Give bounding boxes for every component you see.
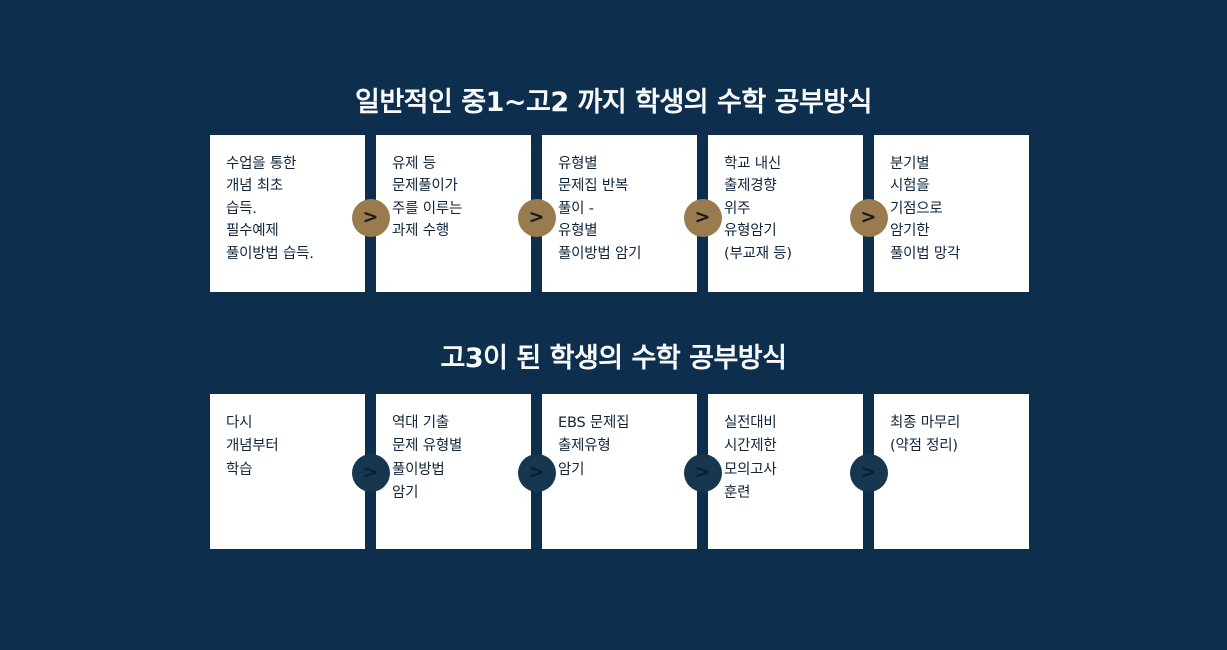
flow-step-senior-2[interactable]: 역대 기출 문제 유형별 풀이방법 암기 — [376, 394, 531, 549]
flow-step-text: 분기별 시험을 기점으로 암기한 풀이법 망각 — [890, 153, 1029, 265]
flow-connector-senior-3: > — [697, 394, 708, 549]
flow-step-general-2[interactable]: 유제 등 문제풀이가 주를 이루는 과제 수행 — [376, 135, 531, 292]
slide-canvas: 일반적인 중1~고2 까지 학생의 수학 공부방식 수업을 통한 개념 최초 습… — [0, 0, 1227, 650]
flow-step-text: 학교 내신 출제경향 위주 유형암기 (부교재 등) — [724, 153, 863, 265]
flow-row-senior: 다시 개념부터 학습 > 역대 기출 문제 유형별 풀이방법 암기 > EBS … — [210, 394, 1031, 549]
chevron-right-glyph: > — [695, 463, 711, 482]
arrow-right-icon: > — [684, 199, 722, 237]
flow-step-text: 최종 마무리 (약점 정리) — [890, 412, 1029, 459]
chevron-right-glyph: > — [529, 463, 545, 482]
flow-connector-senior-1: > — [365, 394, 376, 549]
flow-step-text: 수업을 통한 개념 최초 습득. 필수예제 풀이방법 습득. — [226, 153, 365, 265]
flow-step-text: EBS 문제집 출제유형 암기 — [558, 412, 697, 482]
arrow-right-icon: > — [518, 454, 556, 492]
flow-step-general-5[interactable]: 분기별 시험을 기점으로 암기한 풀이법 망각 — [874, 135, 1029, 292]
arrow-right-icon: > — [850, 454, 888, 492]
chevron-right-glyph: > — [861, 463, 877, 482]
flow-step-text: 유제 등 문제풀이가 주를 이루는 과제 수행 — [392, 153, 531, 243]
flow-row-general: 수업을 통한 개념 최초 습득. 필수예제 풀이방법 습득. > 유제 등 문제… — [210, 135, 1031, 292]
chevron-right-glyph: > — [363, 463, 379, 482]
flow-step-text: 유형별 문제집 반복 풀이 - 유형별 풀이방법 암기 — [558, 153, 697, 265]
flow-connector-senior-2: > — [531, 394, 542, 549]
flow-step-senior-5[interactable]: 최종 마무리 (약점 정리) — [874, 394, 1029, 549]
chevron-right-glyph: > — [529, 208, 545, 227]
arrow-right-icon: > — [850, 199, 888, 237]
flow-step-general-3[interactable]: 유형별 문제집 반복 풀이 - 유형별 풀이방법 암기 — [542, 135, 697, 292]
flow-step-text: 다시 개념부터 학습 — [226, 412, 365, 482]
flow-connector-general-1: > — [365, 135, 376, 292]
arrow-right-icon: > — [352, 454, 390, 492]
chevron-right-glyph: > — [695, 208, 711, 227]
flow-step-senior-3[interactable]: EBS 문제집 출제유형 암기 — [542, 394, 697, 549]
flow-step-general-4[interactable]: 학교 내신 출제경향 위주 유형암기 (부교재 등) — [708, 135, 863, 292]
arrow-right-icon: > — [684, 454, 722, 492]
chevron-right-glyph: > — [861, 208, 877, 227]
arrow-right-icon: > — [352, 199, 390, 237]
arrow-right-icon: > — [518, 199, 556, 237]
flow-step-text: 실전대비 시간제한 모의고사 훈련 — [724, 412, 863, 506]
section-title-general: 일반적인 중1~고2 까지 학생의 수학 공부방식 — [0, 80, 1227, 119]
flow-connector-general-4: > — [863, 135, 874, 292]
flow-step-senior-4[interactable]: 실전대비 시간제한 모의고사 훈련 — [708, 394, 863, 549]
flow-connector-general-3: > — [697, 135, 708, 292]
flow-connector-general-2: > — [531, 135, 542, 292]
flow-step-text: 역대 기출 문제 유형별 풀이방법 암기 — [392, 412, 531, 506]
flow-connector-senior-4: > — [863, 394, 874, 549]
section-title-senior: 고3이 된 학생의 수학 공부방식 — [0, 336, 1227, 375]
flow-step-senior-1[interactable]: 다시 개념부터 학습 — [210, 394, 365, 549]
flow-step-general-1[interactable]: 수업을 통한 개념 최초 습득. 필수예제 풀이방법 습득. — [210, 135, 365, 292]
chevron-right-glyph: > — [363, 208, 379, 227]
